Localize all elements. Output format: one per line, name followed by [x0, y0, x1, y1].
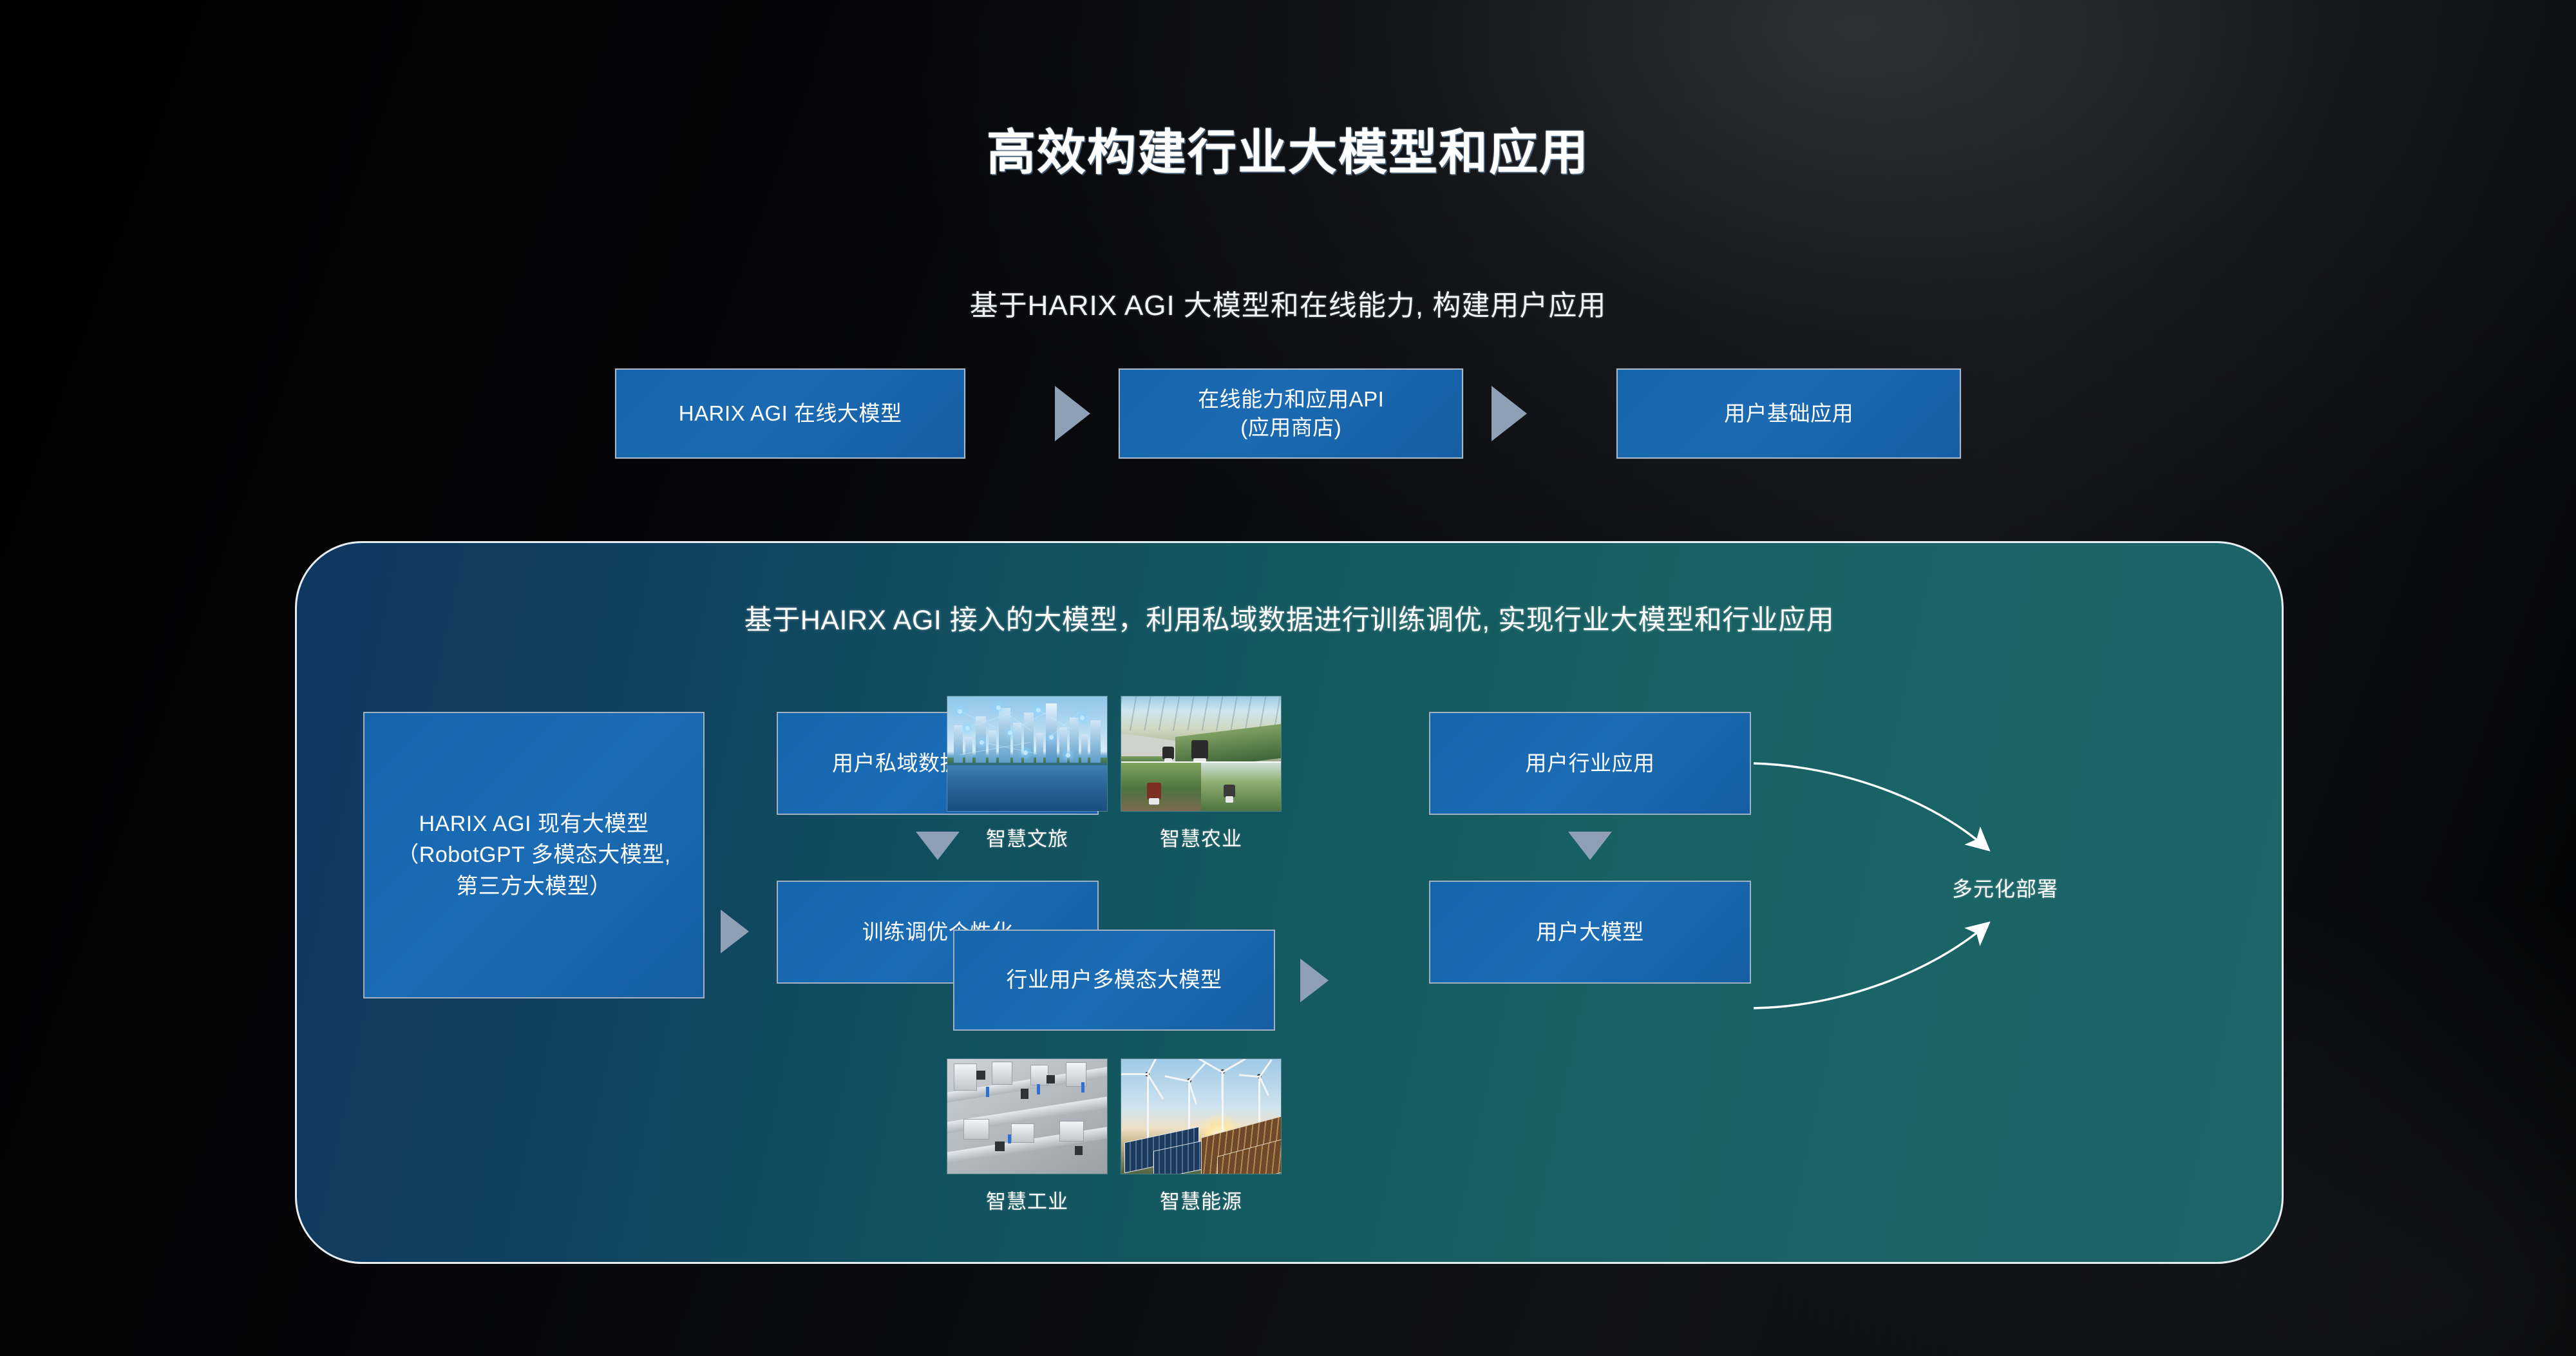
- triangle-right-icon: [721, 910, 749, 953]
- diagram-box-existing-model[interactable]: HARIX AGI 现有大模型 （RobotGPT 多模态大模型, 第三方大模型…: [363, 712, 705, 998]
- deploy-label: 多元化部署: [1952, 873, 2222, 902]
- thumbnail-label: 智慧能源: [1121, 1185, 1282, 1214]
- thumbnail-label: 智慧文旅: [947, 823, 1108, 852]
- thumbnail-smart-agriculture[interactable]: 智慧农业: [1121, 696, 1282, 852]
- diagram-box-user-industry-app[interactable]: 用户行业应用: [1429, 712, 1751, 815]
- wind-solar-image: [1121, 1058, 1282, 1174]
- diagram-box-user-model[interactable]: 用户大模型: [1429, 881, 1751, 984]
- existing-model-line3: 第三方大模型）: [397, 871, 670, 902]
- triangle-right-icon: [1492, 386, 1527, 441]
- thumbnail-smart-industry[interactable]: 智慧工业: [947, 1058, 1108, 1214]
- diagram-box-industry-model[interactable]: 行业用户多模态大模型: [953, 930, 1275, 1031]
- slide-canvas: 高效构建行业大模型和应用 基于HARIX AGI 大模型和在线能力, 构建用户应…: [0, 0, 2576, 1356]
- flow-box-online-api-line2: (应用商店): [1198, 414, 1384, 442]
- smart-city-network-image: [947, 696, 1108, 812]
- greenhouse-robot-image: [1121, 696, 1282, 812]
- flow-box-online-api[interactable]: 在线能力和应用API (应用商店): [1119, 368, 1463, 459]
- thumbnail-label: 智慧工业: [947, 1185, 1108, 1214]
- flow-box-online-api-line1: 在线能力和应用API: [1198, 385, 1384, 414]
- triangle-down-icon: [1568, 832, 1612, 860]
- thumbnail-smart-tourism[interactable]: 智慧文旅: [947, 696, 1108, 852]
- existing-model-line2: （RobotGPT 多模态大模型,: [397, 839, 670, 870]
- page-title: 高效构建行业大模型和应用: [0, 113, 2576, 184]
- top-flow-row: HARIX AGI 在线大模型 在线能力和应用API (应用商店) 用户基础应用: [615, 368, 1961, 459]
- triangle-right-icon: [1300, 959, 1329, 1002]
- main-panel: 基于HAIRX AGI 接入的大模型，利用私域数据进行训练调优, 实现行业大模型…: [295, 541, 2284, 1264]
- existing-model-line1: HARIX AGI 现有大模型: [397, 808, 670, 839]
- flow-box-harix-online-model[interactable]: HARIX AGI 在线大模型: [615, 368, 965, 459]
- flow-box-user-base-app[interactable]: 用户基础应用: [1616, 368, 1961, 459]
- panel-diagram: HARIX AGI 现有大模型 （RobotGPT 多模态大模型, 第三方大模型…: [297, 543, 2282, 1262]
- factory-line-image: [947, 1058, 1108, 1174]
- thumbnail-label: 智慧农业: [1121, 823, 1282, 852]
- page-subtitle: 基于HARIX AGI 大模型和在线能力, 构建用户应用: [0, 282, 2576, 323]
- thumbnail-smart-energy[interactable]: 智慧能源: [1121, 1058, 1282, 1214]
- triangle-right-icon: [1055, 386, 1090, 441]
